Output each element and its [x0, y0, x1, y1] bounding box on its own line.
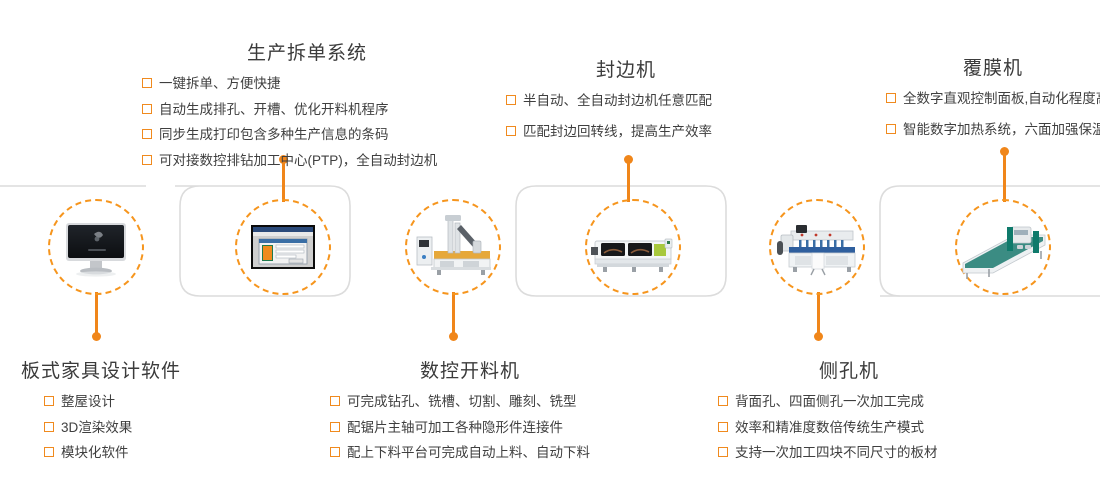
- feature-list: 可完成钻孔、铣槽、切割、雕刻、铣型 配锯片主轴可加工各种隐形件连接件 配上下料平…: [330, 392, 610, 463]
- connector-dot-cnc-cutting: [449, 332, 458, 341]
- list-item: 可完成钻孔、铣槽、切割、雕刻、铣型: [330, 392, 610, 412]
- list-item-label: 背面孔、四面侧孔一次加工完成: [735, 392, 924, 412]
- block-side-hole: 侧孔机 背面孔、四面侧孔一次加工完成 效率和精准度数倍传统生产模式 支持一次加工…: [718, 356, 980, 469]
- node-cnc-cutting[interactable]: [405, 199, 501, 295]
- checkbox-bullet-icon: [506, 95, 516, 105]
- feature-list: 半自动、全自动封边机任意匹配 匹配封边回转线，提高生产效率: [506, 91, 746, 141]
- checkbox-bullet-icon: [330, 396, 340, 406]
- checkbox-bullet-icon: [886, 124, 896, 134]
- list-item-label: 支持一次加工四块不同尺寸的板材: [735, 443, 938, 463]
- list-item: 同步生成打印包含多种生产信息的条码: [142, 125, 472, 145]
- list-item: 自动生成排孔、开槽、优化开料机程序: [142, 100, 472, 120]
- infographic-canvas: 生产拆单系统 一键拆单、方便快捷 自动生成排孔、开槽、优化开料机程序 同步生成打…: [0, 0, 1100, 495]
- checkbox-bullet-icon: [142, 155, 152, 165]
- block-title: 生产拆单系统: [142, 38, 472, 65]
- node-design-software[interactable]: [48, 199, 144, 295]
- connector-dot-edge-banding: [624, 155, 633, 164]
- list-item-label: 整屋设计: [61, 392, 115, 412]
- list-item: 整屋设计: [44, 392, 194, 412]
- block-cnc-cutting: 数控开料机 可完成钻孔、铣槽、切割、雕刻、铣型 配锯片主轴可加工各种隐形件连接件…: [330, 356, 610, 469]
- list-item-label: 3D渲染效果: [61, 418, 132, 438]
- list-item: 背面孔、四面侧孔一次加工完成: [718, 392, 980, 412]
- desktop-computer-icon: [50, 201, 142, 293]
- list-item-label: 智能数字加热系统，六面加强保温: [903, 120, 1100, 140]
- feature-list: 背面孔、四面侧孔一次加工完成 效率和精准度数倍传统生产模式 支持一次加工四块不同…: [718, 392, 980, 463]
- list-item: 支持一次加工四块不同尺寸的板材: [718, 443, 980, 463]
- checkbox-bullet-icon: [506, 126, 516, 136]
- list-item-label: 可完成钻孔、铣槽、切割、雕刻、铣型: [347, 392, 577, 412]
- checkbox-bullet-icon: [330, 447, 340, 457]
- block-laminating: 覆膜机 全数字直观控制面板,自动化程度高 智能数字加热系统，六面加强保温: [886, 53, 1100, 145]
- block-title: 覆膜机: [886, 53, 1100, 80]
- list-item: 可对接数控排钻加工中心(PTP)，全自动封边机: [142, 151, 472, 171]
- cnc-router-icon: [407, 201, 499, 293]
- block-title: 封边机: [506, 55, 746, 82]
- list-item: 效率和精准度数倍传统生产模式: [718, 418, 980, 438]
- connector-stem-side-hole: [817, 292, 820, 336]
- list-item-label: 配上下料平台可完成自动上料、自动下料: [347, 443, 590, 463]
- connector-dot-laminating: [1000, 147, 1009, 156]
- list-item-label: 半自动、全自动封边机任意匹配: [523, 91, 712, 111]
- node-edge-banding[interactable]: [585, 199, 681, 295]
- node-laminating[interactable]: [955, 199, 1051, 295]
- list-item-label: 一键拆单、方便快捷: [159, 74, 281, 94]
- connector-dot-side-hole: [814, 332, 823, 341]
- list-item: 模块化软件: [44, 443, 194, 463]
- feature-list: 整屋设计 3D渲染效果 模块化软件: [8, 392, 194, 463]
- list-item-label: 全数字直观控制面板,自动化程度高: [903, 89, 1100, 109]
- list-item-label: 可对接数控排钻加工中心(PTP)，全自动封边机: [159, 151, 437, 171]
- software-screen-icon: [237, 201, 329, 293]
- checkbox-bullet-icon: [142, 78, 152, 88]
- side-drilling-machine-icon: [771, 201, 863, 293]
- node-order-splitting[interactable]: [235, 199, 331, 295]
- list-item: 3D渲染效果: [44, 418, 194, 438]
- block-title: 数控开料机: [330, 356, 610, 383]
- checkbox-bullet-icon: [44, 447, 54, 457]
- checkbox-bullet-icon: [44, 422, 54, 432]
- list-item-label: 自动生成排孔、开槽、优化开料机程序: [159, 100, 389, 120]
- node-side-hole[interactable]: [769, 199, 865, 295]
- block-edge-banding: 封边机 半自动、全自动封边机任意匹配 匹配封边回转线，提高生产效率: [506, 55, 746, 147]
- list-item: 配锯片主轴可加工各种隐形件连接件: [330, 418, 610, 438]
- connector-stem-design-software: [95, 292, 98, 336]
- checkbox-bullet-icon: [718, 396, 728, 406]
- list-item: 智能数字加热系统，六面加强保温: [886, 120, 1100, 140]
- feature-list: 一键拆单、方便快捷 自动生成排孔、开槽、优化开料机程序 同步生成打印包含多种生产…: [142, 74, 472, 170]
- block-order-splitting: 生产拆单系统 一键拆单、方便快捷 自动生成排孔、开槽、优化开料机程序 同步生成打…: [142, 38, 472, 176]
- connector-stem-cnc-cutting: [452, 292, 455, 336]
- block-title: 板式家具设计软件: [8, 356, 194, 383]
- checkbox-bullet-icon: [142, 129, 152, 139]
- block-title: 侧孔机: [718, 356, 980, 383]
- checkbox-bullet-icon: [330, 422, 340, 432]
- list-item: 一键拆单、方便快捷: [142, 74, 472, 94]
- connector-stem-laminating: [1003, 152, 1006, 202]
- checkbox-bullet-icon: [44, 396, 54, 406]
- checkbox-bullet-icon: [718, 422, 728, 432]
- block-design-software: 板式家具设计软件 整屋设计 3D渲染效果 模块化软件: [8, 356, 194, 469]
- connector-stem-edge-banding: [627, 160, 630, 202]
- list-item: 半自动、全自动封边机任意匹配: [506, 91, 746, 111]
- list-item-label: 匹配封边回转线，提高生产效率: [523, 122, 712, 142]
- checkbox-bullet-icon: [886, 93, 896, 103]
- list-item: 匹配封边回转线，提高生产效率: [506, 122, 746, 142]
- edge-banding-machine-icon: [587, 201, 679, 293]
- connector-dot-design-software: [92, 332, 101, 341]
- list-item-label: 效率和精准度数倍传统生产模式: [735, 418, 924, 438]
- list-item-label: 同步生成打印包含多种生产信息的条码: [159, 125, 389, 145]
- laminating-machine-icon: [957, 201, 1049, 293]
- list-item: 配上下料平台可完成自动上料、自动下料: [330, 443, 610, 463]
- feature-list: 全数字直观控制面板,自动化程度高 智能数字加热系统，六面加强保温: [886, 89, 1100, 139]
- list-item-label: 模块化软件: [61, 443, 129, 463]
- checkbox-bullet-icon: [142, 104, 152, 114]
- list-item: 全数字直观控制面板,自动化程度高: [886, 89, 1100, 109]
- checkbox-bullet-icon: [718, 447, 728, 457]
- list-item-label: 配锯片主轴可加工各种隐形件连接件: [347, 418, 563, 438]
